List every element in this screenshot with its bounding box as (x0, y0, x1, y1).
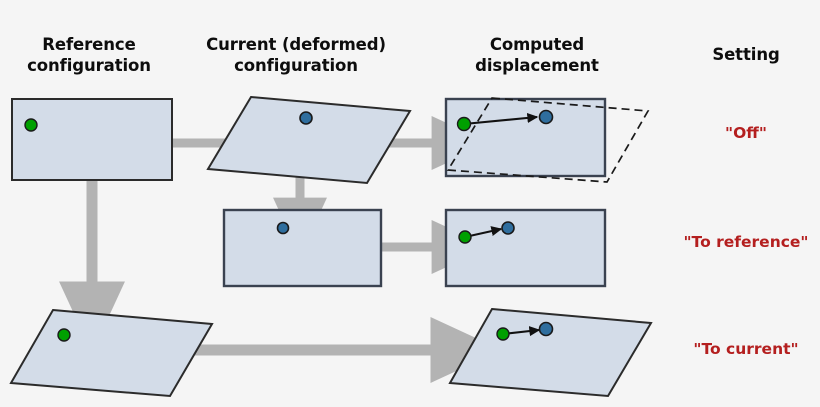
row2-computed-displacement-rect[interactable] (446, 210, 605, 286)
setting-value-row3: "To current" (666, 340, 820, 358)
row1-computed-displacement-rect[interactable] (446, 99, 605, 176)
row1-end-marker-blue[interactable] (540, 111, 553, 124)
setting-value-row1: "Off" (672, 124, 820, 142)
row2-current-point-marker-blue[interactable] (278, 223, 289, 234)
column-header-current: Current (deformed) configuration (196, 34, 396, 76)
row3-computed-displacement-parallelogram[interactable] (450, 309, 651, 396)
column-header-reference: Reference configuration (6, 34, 172, 76)
row3-reference-point-marker-green[interactable] (58, 329, 70, 341)
row1-start-marker-green[interactable] (458, 118, 471, 131)
row2-start-marker-green[interactable] (459, 231, 471, 243)
column-header-current-line2: configuration (196, 55, 396, 76)
column-header-setting: Setting (672, 44, 820, 65)
column-header-displacement-line2: displacement (452, 55, 622, 76)
row3-end-marker-blue[interactable] (540, 323, 553, 336)
row-1-group (12, 97, 648, 183)
column-header-reference-line2: configuration (6, 55, 172, 76)
reference-configuration-rect[interactable] (12, 99, 172, 180)
row2-current-configuration-rect[interactable] (224, 210, 381, 286)
column-header-reference-line1: Reference (6, 34, 172, 55)
current-configuration-parallelogram[interactable] (208, 97, 410, 183)
row3-start-marker-green[interactable] (497, 328, 509, 340)
diagram-root: Reference configuration Current (deforme… (0, 0, 820, 407)
setting-value-row2: "To reference" (664, 233, 820, 251)
column-header-current-line1: Current (deformed) (196, 34, 396, 55)
column-header-displacement-line1: Computed (452, 34, 622, 55)
row2-end-marker-blue[interactable] (502, 222, 514, 234)
reference-point-marker-green[interactable] (25, 119, 37, 131)
current-point-marker-blue[interactable] (300, 112, 312, 124)
row3-reference-parallelogram[interactable] (11, 310, 212, 396)
column-header-displacement: Computed displacement (452, 34, 622, 76)
